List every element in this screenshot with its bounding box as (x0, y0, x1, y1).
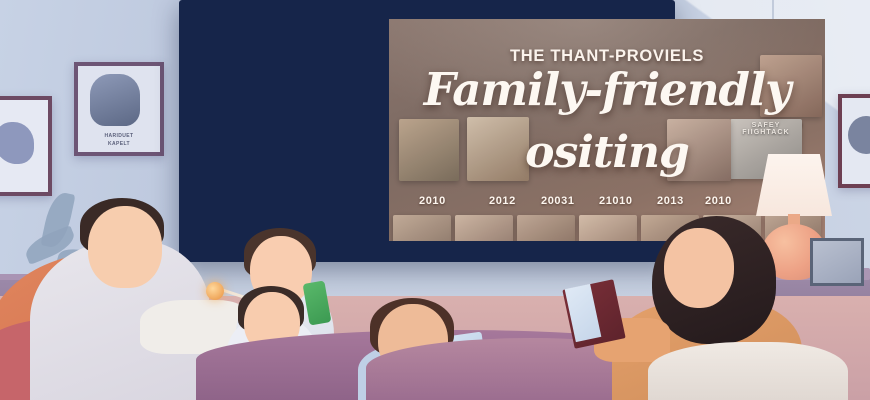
filmstrip-cell-2 (455, 215, 513, 241)
mother-head (664, 228, 734, 308)
year-label: 2010 (705, 195, 732, 207)
desk-photo-frame (810, 238, 864, 286)
living-room-scene: HARIDUET KAPELT 2019SAFEY FIIGHTACK 2010… (0, 0, 870, 400)
tv-title-script-2: ositing (389, 131, 825, 175)
abstract-shape (0, 122, 34, 164)
filmstrip-cell-1 (393, 215, 451, 241)
year-label: 20031 (541, 195, 575, 207)
framed-portrait-left: HARIDUET KAPELT (74, 62, 164, 156)
year-label: 2010 (419, 195, 446, 207)
portrait-figure (90, 74, 140, 126)
abstract-shape (848, 116, 870, 154)
lollipop (206, 282, 224, 300)
tv-title-script-1: Family-friendly (389, 67, 825, 112)
television[interactable]: 2019SAFEY FIIGHTACK 20102012200312101020… (179, 0, 675, 262)
year-label: 2013 (657, 195, 684, 207)
portrait-caption: HARIDUET KAPELT (78, 133, 160, 148)
filmstrip-cell-4 (579, 215, 637, 241)
framed-abstract-right (838, 94, 870, 188)
filmstrip-cell-3 (517, 215, 575, 241)
year-label: 21010 (599, 195, 633, 207)
father-head (88, 206, 162, 288)
year-label: 2012 (489, 195, 516, 207)
mother-blanket (648, 342, 848, 400)
table-lamp-shade (756, 154, 832, 216)
desk-photo-image (813, 241, 861, 283)
